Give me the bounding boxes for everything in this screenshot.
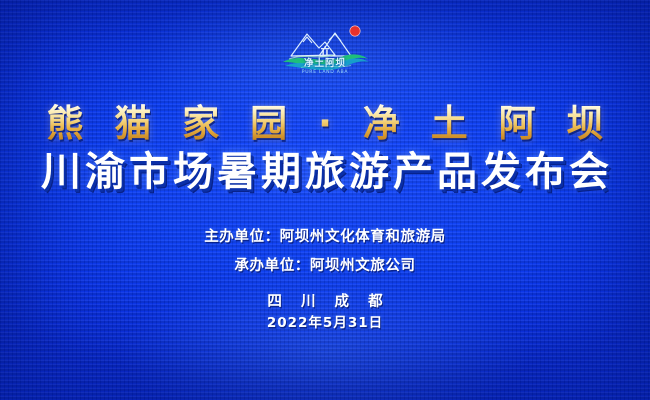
event-backdrop-screen: 净土阿坝 PURE LAND ABA 熊 猫 家 园 · 净 土 阿 坝 川渝市…: [0, 0, 650, 400]
mountain-icon: [291, 33, 351, 56]
logo-english-text: PURE LAND ABA: [279, 71, 371, 76]
main-title-line2: 川渝市场暑期旅游产品发布会: [0, 150, 650, 196]
organizer-host: 主办单位：阿坝州文化体育和旅游局: [0, 225, 650, 246]
logo-chinese-text: 净土阿坝: [279, 59, 371, 69]
main-title-line1: 熊 猫 家 园 · 净 土 阿 坝: [0, 103, 650, 144]
backdrop-content: 净土阿坝 PURE LAND ABA 熊 猫 家 园 · 净 土 阿 坝 川渝市…: [0, 0, 650, 400]
event-date: 2022年5月31日: [0, 311, 650, 331]
organizer-coordinator: 承办单位：阿坝州文旅公司: [0, 254, 650, 275]
logo: 净土阿坝 PURE LAND ABA: [279, 22, 371, 84]
event-place: 四 川 成 都: [0, 290, 650, 311]
